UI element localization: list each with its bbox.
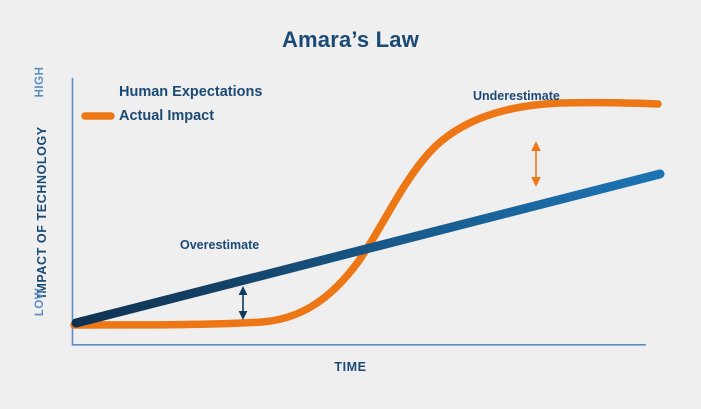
legend-label-actual-impact: Actual Impact [119,108,214,124]
overestimate-arrow-icon [239,286,248,320]
x-axis-title: TIME [0,360,701,374]
series-line-human-expectations [76,174,660,323]
annotation-label-underestimate: Underestimate [473,89,560,103]
annotation-label-overestimate: Overestimate [180,238,259,252]
series-line-actual-impact [74,103,658,325]
legend-label-human-expectations: Human Expectations [119,84,262,100]
y-axis-tick-low: LOW [34,272,46,332]
y-axis-tick-high: HIGH [34,52,46,112]
chart-container: Amara’s Law [0,0,701,409]
underestimate-arrow-icon [531,141,541,187]
chart-plot-area [0,0,701,409]
